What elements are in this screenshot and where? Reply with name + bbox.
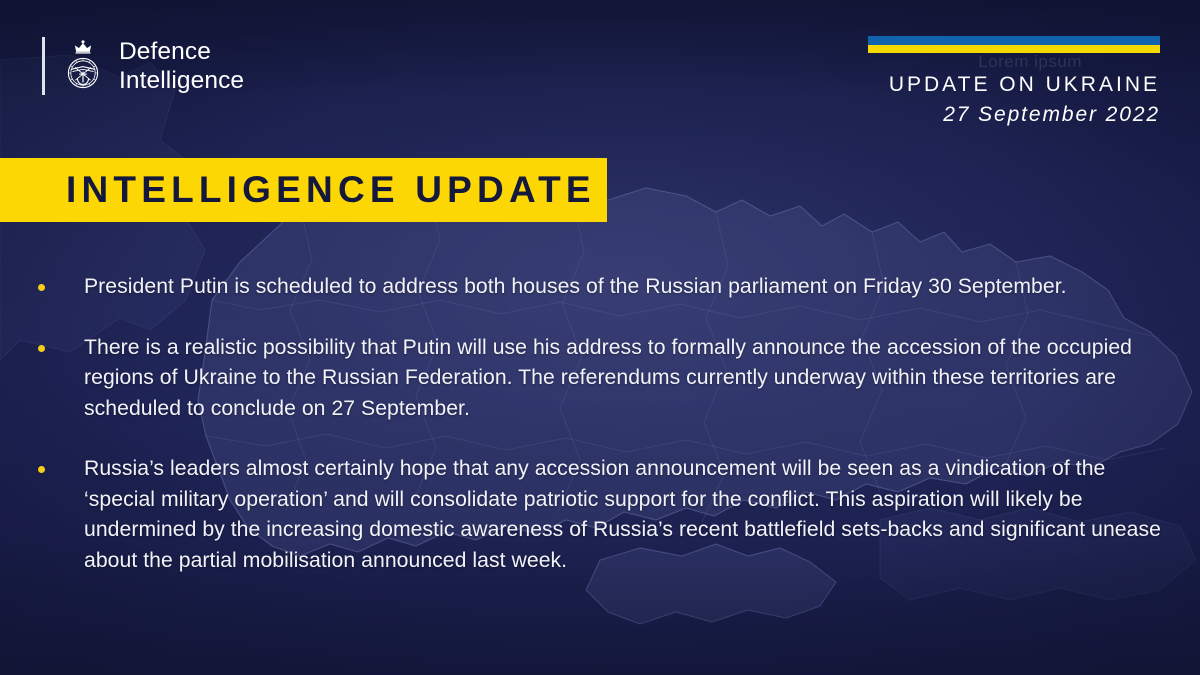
update-header-block: UPDATE ON UKRAINE 27 September 2022: [868, 36, 1160, 129]
brand-line-2: Intelligence: [119, 66, 244, 95]
flag-yellow-stripe: [868, 45, 1160, 54]
bullet-text: Russia’s leaders almost certainly hope t…: [84, 454, 1172, 576]
bullet-list: President Putin is scheduled to address …: [38, 272, 1172, 576]
bullet-text: There is a realistic possibility that Pu…: [84, 333, 1172, 425]
defence-intelligence-logo: Defence Intelligence: [42, 33, 244, 99]
defence-intelligence-crest-icon: [60, 37, 106, 95]
flag-blue-stripe: [868, 36, 1160, 45]
logo-divider-rule: [42, 37, 45, 95]
intelligence-update-slide: Defence Intelligence UPDATE ON UKRAINE 2…: [0, 0, 1200, 675]
list-item: President Putin is scheduled to address …: [38, 272, 1172, 303]
bullet-dot-icon: [38, 345, 45, 352]
list-item: There is a realistic possibility that Pu…: [38, 333, 1172, 425]
list-item: Russia’s leaders almost certainly hope t…: [38, 454, 1172, 576]
bullet-dot-icon: [38, 466, 45, 473]
update-date: 27 September 2022: [868, 101, 1160, 129]
update-title: UPDATE ON UKRAINE: [868, 73, 1160, 98]
bullet-text: President Putin is scheduled to address …: [84, 272, 1067, 303]
ukraine-flag-bar-icon: [868, 36, 1160, 53]
intelligence-update-banner: INTELLIGENCE UPDATE: [0, 158, 607, 222]
banner-label: INTELLIGENCE UPDATE: [66, 169, 596, 211]
brand-wordmark: Defence Intelligence: [119, 37, 244, 95]
bullet-dot-icon: [38, 284, 45, 291]
brand-line-1: Defence: [119, 37, 244, 66]
